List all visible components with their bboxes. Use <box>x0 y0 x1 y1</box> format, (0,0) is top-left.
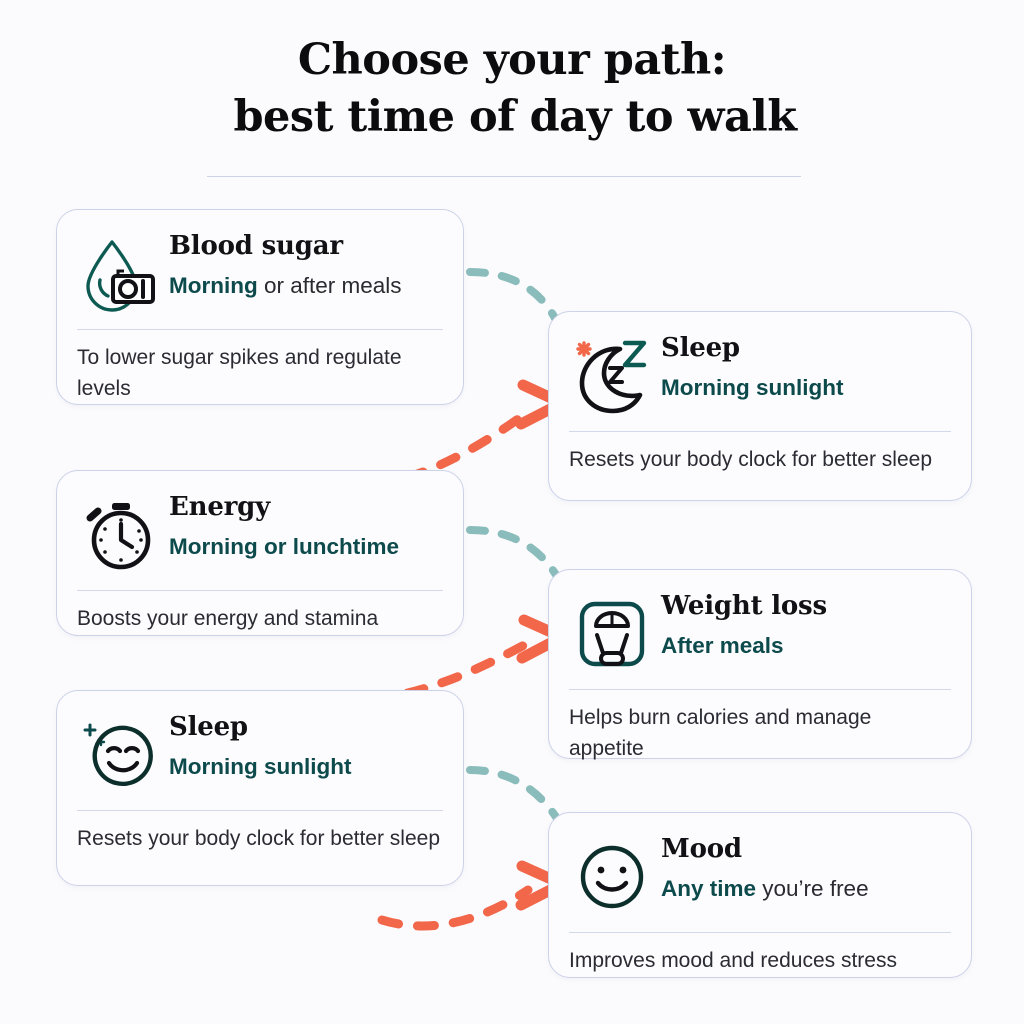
card-description: Helps burn calories and manage appetite <box>549 690 971 780</box>
connector-teal-3 <box>470 770 558 820</box>
card-header: Sleep Morning sunlight <box>549 312 971 418</box>
card-description: To lower sugar spikes and regulate level… <box>57 330 463 420</box>
card-when: After meals <box>661 631 951 661</box>
card-header: Mood Any time you’re free <box>549 813 971 919</box>
card-when-accent: Morning <box>169 273 258 298</box>
card-description: Resets your body clock for better sleep <box>57 811 463 870</box>
smiling-face-sparkle-icon <box>77 713 163 797</box>
card-head: Blood sugar Morning or after meals <box>163 228 443 301</box>
card-head: Sleep Morning sunlight <box>163 709 443 782</box>
crescent-moon-zzz-icon <box>569 334 655 418</box>
card-header: Sleep Morning sunlight <box>57 691 463 797</box>
card-when: Morning sunlight <box>661 373 951 403</box>
title-underline-rule <box>207 176 801 177</box>
card-when-rest: or after meals <box>258 273 402 298</box>
infographic-canvas: Choose your path: best time of day to wa… <box>0 0 1024 1024</box>
card-when-rest: you’re free <box>756 876 869 901</box>
page-title: Choose your path: best time of day to wa… <box>0 32 1024 146</box>
card-title: Sleep <box>169 711 443 743</box>
card-description: Improves mood and reduces stress <box>549 933 971 992</box>
card-header: Weight loss After meals <box>549 570 971 676</box>
card-when: Morning or lunchtime <box>169 532 443 562</box>
card-when-accent: Morning sunlight <box>661 375 843 400</box>
smiley-face-icon <box>569 835 655 919</box>
connector-teal-1 <box>470 272 556 320</box>
connector-teal-2 <box>470 530 558 578</box>
card-when: Morning or after meals <box>169 271 443 301</box>
card-head: Weight loss After meals <box>655 588 951 661</box>
card-when: Any time you’re free <box>661 874 951 904</box>
bathroom-scale-icon <box>569 592 655 676</box>
card-title: Mood <box>661 833 951 865</box>
card-title: Sleep <box>661 332 951 364</box>
card-weight-loss[interactable]: Weight loss After meals Helps burn calor… <box>548 569 972 759</box>
card-blood-sugar[interactable]: Blood sugar Morning or after meals To lo… <box>56 209 464 405</box>
card-header: Energy Morning or lunchtime <box>57 471 463 577</box>
card-head: Energy Morning or lunchtime <box>163 489 443 562</box>
title-line-1: Choose your path: <box>0 32 1024 88</box>
card-head: Sleep Morning sunlight <box>655 330 951 403</box>
card-head: Mood Any time you’re free <box>655 831 951 904</box>
card-sleep-right[interactable]: Sleep Morning sunlight Resets your body … <box>548 311 972 501</box>
card-title: Weight loss <box>661 590 951 622</box>
connector-coral-3 <box>382 890 528 926</box>
card-title: Blood sugar <box>169 230 443 262</box>
title-line-2: best time of day to walk <box>0 88 1024 146</box>
card-sleep-left[interactable]: Sleep Morning sunlight Resets your body … <box>56 690 464 886</box>
card-when-accent: After meals <box>661 633 784 658</box>
card-mood[interactable]: Mood Any time you’re free Improves mood … <box>548 812 972 978</box>
card-description: Boosts your energy and stamina <box>57 591 463 650</box>
stopwatch-icon <box>77 493 163 577</box>
card-when-accent: Any time <box>661 876 756 901</box>
card-when-accent: Morning or lunchtime <box>169 534 399 559</box>
card-description: Resets your body clock for better sleep <box>549 432 971 491</box>
card-energy[interactable]: Energy Morning or lunchtime Boosts your … <box>56 470 464 636</box>
card-header: Blood sugar Morning or after meals <box>57 210 463 316</box>
card-when: Morning sunlight <box>169 752 443 782</box>
card-when-accent: Morning sunlight <box>169 754 351 779</box>
card-title: Energy <box>169 491 443 523</box>
blood-drop-glucose-meter-icon <box>77 232 163 316</box>
